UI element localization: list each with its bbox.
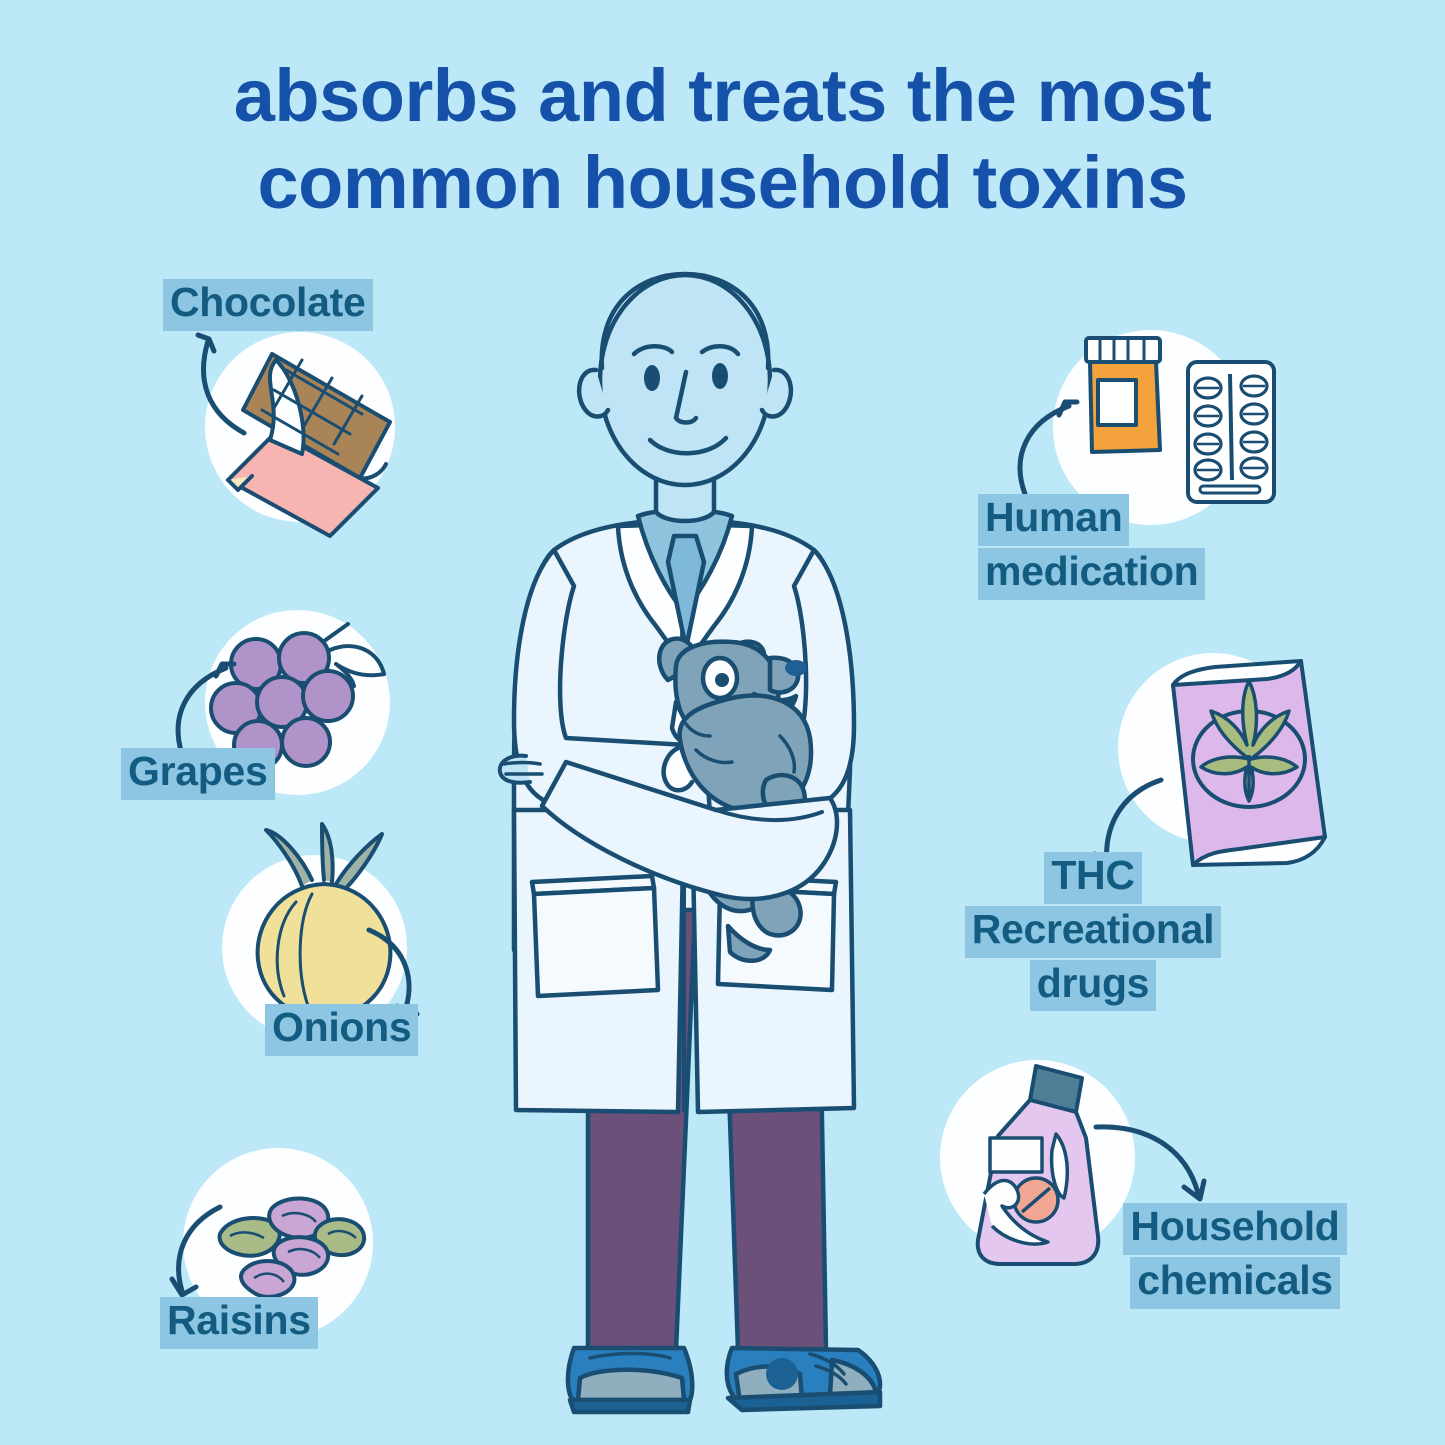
raisins-label-line-1: Raisins [160, 1297, 318, 1349]
household-chemicals-label-line-2: chemicals [1130, 1257, 1340, 1309]
onions-label: Onions [265, 1004, 418, 1056]
raisins-icon [210, 1190, 370, 1305]
thc-label-line-2: Recreational [965, 906, 1222, 958]
coat-pocket-left [532, 876, 658, 996]
grapes-label: Grapes [121, 748, 275, 800]
shoe-right [727, 1348, 880, 1410]
human-medication-label-line-1: Human [978, 494, 1129, 546]
shoe-left [568, 1348, 692, 1412]
title-line-2: common household toxins [0, 139, 1445, 226]
onions-label-line-1: Onions [265, 1004, 418, 1056]
title-line-1: absorbs and treats the most [0, 52, 1445, 139]
cannabis-bag-icon [1155, 655, 1330, 880]
raisins-label: Raisins [160, 1297, 318, 1349]
human-medication-label: Human medication [978, 494, 1205, 600]
thc-label-line-3: drugs [1030, 960, 1156, 1012]
chocolate-label-line-1: Chocolate [163, 279, 373, 331]
veterinarian-holding-dog-illustration [470, 250, 990, 1445]
onion-icon [240, 820, 410, 1035]
chocolate-bar-icon [210, 330, 425, 540]
human-medication-label-line-2: medication [978, 548, 1205, 600]
pill-bottle-and-blister-pack-icon [1070, 330, 1285, 520]
grapes-label-line-1: Grapes [121, 748, 275, 800]
household-chemicals-label-line-1: Household [1123, 1203, 1346, 1255]
page-title: absorbs and treats the most common house… [0, 52, 1445, 227]
infographic-canvas: absorbs and treats the most common house… [0, 0, 1445, 1445]
hand-left [500, 756, 530, 783]
dog-pupil [715, 673, 729, 687]
household-chemicals-label: Household chemicals [1090, 1203, 1380, 1309]
dog-nose [785, 660, 807, 676]
thc-label-line-1: THC [1044, 852, 1141, 904]
chocolate-label: Chocolate [163, 279, 373, 331]
